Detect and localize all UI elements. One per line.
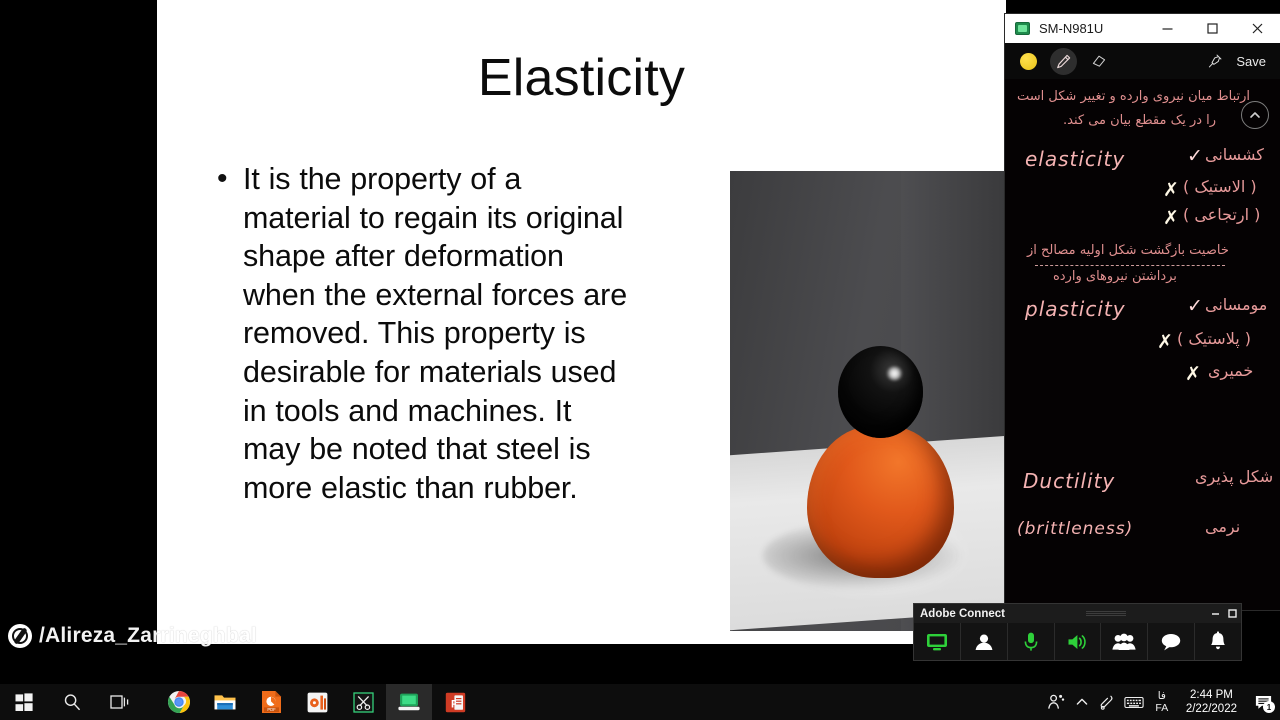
windows-start-icon [15,693,33,711]
microphone-icon [1022,631,1040,652]
taskbar-app-pdf-reader[interactable]: PDF [248,684,294,720]
file-explorer-icon [213,691,237,713]
taskbar-app-powerpoint[interactable]: P [432,684,478,720]
taskbar-app-google-chrome[interactable] [156,684,202,720]
microphone-button[interactable] [1008,623,1055,660]
ink-note-line: ارتباط میان نیروی وارده و تغییر شکل است [1017,89,1250,104]
taskbar-app-file-explorer[interactable] [202,684,248,720]
pen-ink-icon[interactable] [1095,684,1121,720]
ink-note-line: مومسانی [1205,295,1267,314]
start-button[interactable] [0,684,48,720]
language-indicator[interactable]: فا FA [1147,684,1177,720]
search-button[interactable] [48,684,96,720]
screen-share-button[interactable] [914,623,961,660]
ink-underline [1035,265,1225,266]
ink-note-line: کشسانی [1205,145,1264,164]
attendees-icon [1111,632,1137,652]
close-button[interactable] [1235,14,1280,43]
speaker-icon [1066,632,1090,652]
ink-cross-mark: ✗ [1163,179,1179,201]
taskbar-app-snip-tool[interactable] [340,684,386,720]
page-title: Elasticity [157,50,1006,107]
ink-check-mark: ✓ [1187,295,1203,317]
search-icon [63,693,81,711]
camera-icon [973,632,995,652]
pin-icon [1207,53,1223,69]
slide-canvas: Elasticity • It is the property of a mat… [157,0,1006,644]
attendees-button[interactable] [1101,623,1148,660]
ink-cross-mark: ✗ [1185,363,1201,385]
chrome-icon [167,690,191,714]
telegram-reel-icon [8,624,32,648]
ink-note-line: را در یک مقطع بیان می کند. [1063,113,1216,128]
phone-mirror-window[interactable]: SM-N981U [1005,14,1280,610]
black-ball [838,346,924,438]
ink-note-line: ( پلاستیک ) [1177,329,1251,348]
svg-text:PDF: PDF [267,707,276,712]
svg-text:P: P [451,698,458,710]
phone-mirror-icon [396,691,422,713]
touch-keyboard-icon[interactable] [1121,684,1147,720]
screen: Elasticity • It is the property of a mat… [0,0,1280,720]
pen-button[interactable] [1050,48,1077,75]
chevron-up-icon[interactable] [1241,101,1269,129]
ink-note-line: شکل پذیری [1195,467,1273,486]
ink-canvas[interactable]: ارتباط میان نیروی وارده و تغییر شکل است … [1005,79,1280,610]
adobe-connect-title: Adobe Connect [920,608,1005,620]
restore-button[interactable] [1224,605,1241,622]
ink-note-line: ( ارتجاعی ) [1183,205,1260,224]
save-button[interactable]: Save [1236,54,1270,69]
minimize-button[interactable] [1207,605,1224,622]
system-tray[interactable]: فا FA 2:44 PM 2/22/2022 1 [1043,684,1280,720]
drag-grip[interactable] [1005,611,1207,616]
notification-button[interactable] [1195,623,1241,660]
action-center-button[interactable]: 1 [1246,684,1280,720]
task-view-icon [110,693,130,711]
maximize-button[interactable] [1190,14,1235,43]
camera-button[interactable] [961,623,1008,660]
phone-screen-mirror-icon [1015,22,1030,35]
ink-note-line: خمیری [1208,361,1253,380]
media-player-icon [306,691,329,714]
phone-window-titlebar[interactable]: SM-N981U [1005,14,1280,43]
ink-note-line: نرمی [1205,517,1240,536]
bullet-item: • It is the property of a material to re… [217,160,637,507]
chevron-up-icon [1075,695,1089,709]
notification-count-badge: 1 [1263,701,1275,713]
pin-button[interactable] [1201,48,1228,75]
bullet-text: It is the property of a material to rega… [243,160,637,507]
ink-cross-mark: ✗ [1157,331,1173,353]
eraser-button[interactable] [1085,48,1112,75]
chat-button[interactable] [1148,623,1195,660]
orange-deformed-ball [807,426,953,578]
language-code: FA [1155,702,1168,714]
ink-term-ductility: Ductility [1023,469,1115,493]
screen-share-icon [925,632,949,652]
adobe-connect-titlebar[interactable]: Adobe Connect [914,604,1241,623]
ink-term-plasticity: plasticity [1025,297,1126,321]
snip-scissors-icon [352,691,375,714]
ink-term-brittleness: (brittleness) [1017,519,1133,539]
task-view-button[interactable] [96,684,144,720]
ink-check-mark: ✓ [1187,145,1203,167]
window-title: SM-N981U [1039,21,1145,36]
pdf-reader-icon: PDF [260,690,283,714]
adobe-connect-toolbar[interactable] [914,623,1241,660]
show-hidden-icons-button[interactable] [1069,684,1095,720]
powerpoint-icon: P [444,691,467,714]
slide-body: • It is the property of a material to re… [217,160,637,507]
color-swatch-button[interactable] [1015,48,1042,75]
ink-note-line: برداشتن نیروهای وارده [1053,269,1177,284]
ink-cross-mark: ✗ [1163,207,1179,229]
ink-note-line: خاصیت بازگشت شکل اولیه مصالح از [1027,243,1229,258]
ink-toolbar[interactable]: Save [1005,43,1280,79]
people-icon[interactable] [1043,684,1069,720]
minimize-button[interactable] [1145,14,1190,43]
clock-time: 2:44 PM [1190,688,1233,702]
taskbar[interactable]: PDF [0,684,1280,720]
adobe-connect-window[interactable]: Adobe Connect [913,603,1242,661]
clock-date: 2/22/2022 [1186,702,1237,716]
taskbar-app-media-player[interactable] [294,684,340,720]
clock[interactable]: 2:44 PM 2/22/2022 [1177,684,1246,720]
yellow-color-swatch [1020,53,1037,70]
language-native: فا [1158,690,1166,702]
taskbar-app-phone-mirror[interactable] [386,684,432,720]
speaker-button[interactable] [1055,623,1102,660]
slide-image [730,171,1006,631]
ink-term-elasticity: elasticity [1025,147,1125,171]
chat-icon [1159,632,1183,652]
ink-note-line: ( الاستیک ) [1183,177,1257,196]
eraser-icon [1091,53,1107,69]
bell-icon [1208,631,1228,652]
bullet-marker: • [217,160,243,198]
pen-icon [1055,53,1072,70]
